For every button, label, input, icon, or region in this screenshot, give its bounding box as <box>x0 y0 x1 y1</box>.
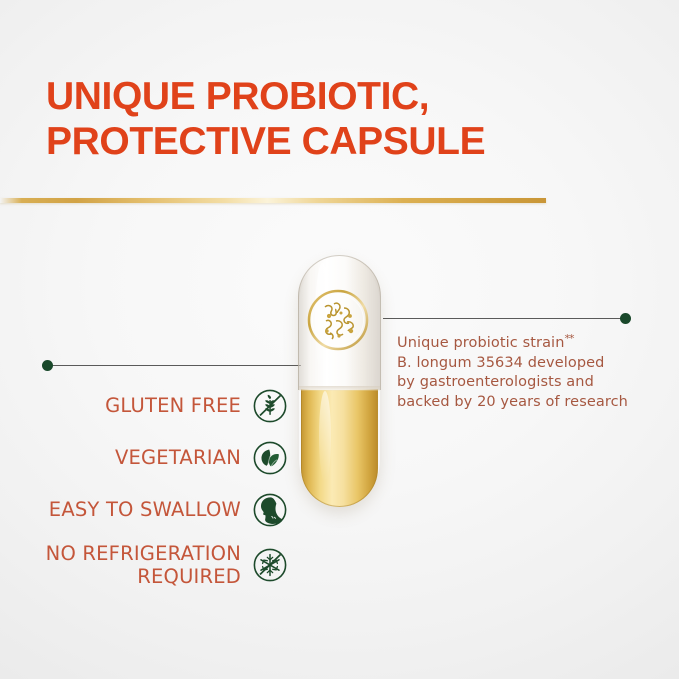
callout-dot-right <box>620 313 631 324</box>
feature-label-vegetarian: Vegetarian <box>115 447 241 469</box>
callout-line-left <box>53 365 301 366</box>
annotation-line-1: Unique probiotic strain** <box>397 329 647 354</box>
head-profile-swallow-icon <box>252 492 288 528</box>
capsule-seam <box>299 386 380 391</box>
product-infographic: Unique probiotic, Protective capsule <box>0 0 679 679</box>
feature-item-vegetarian: Vegetarian <box>28 432 288 484</box>
feature-item-easy-to-swallow: Easy to swallow <box>28 484 288 536</box>
probiotic-capsule <box>295 243 384 515</box>
headline-line-2: Protective capsule <box>46 119 646 164</box>
feature-label-no-refrigeration: No refrigeration required <box>46 542 241 588</box>
page-title: Unique probiotic, Protective capsule <box>46 74 646 164</box>
no-gluten-wheat-icon <box>252 388 288 424</box>
feature-list: Gluten free <box>28 380 288 594</box>
feature-item-no-refrigeration: No refrigeration required <box>28 536 288 594</box>
annotation-line-2: B. longum 35634 developed <box>397 354 647 374</box>
callout-line-right <box>383 318 624 319</box>
headline-line-1: Unique probiotic, <box>46 74 646 119</box>
feature-item-gluten-free: Gluten free <box>28 380 288 432</box>
capsule-bottom-half <box>301 389 378 507</box>
no-refrigeration-snowflake-icon <box>252 547 288 583</box>
annotation-line-4: backed by 20 years of research <box>397 393 647 413</box>
probiotic-bacteria-badge-icon <box>306 288 370 352</box>
feature-label-gluten-free: Gluten free <box>105 395 241 417</box>
gold-divider <box>0 198 546 203</box>
feature-label-easy-to-swallow: Easy to swallow <box>49 499 241 521</box>
annotation-superscript: ** <box>564 332 573 345</box>
annotation-line-3: by gastroenterologists and <box>397 373 647 393</box>
callout-dot-left <box>42 360 53 371</box>
leaves-icon <box>252 440 288 476</box>
callout-annotation: Unique probiotic strain** B. longum 3563… <box>397 329 647 412</box>
